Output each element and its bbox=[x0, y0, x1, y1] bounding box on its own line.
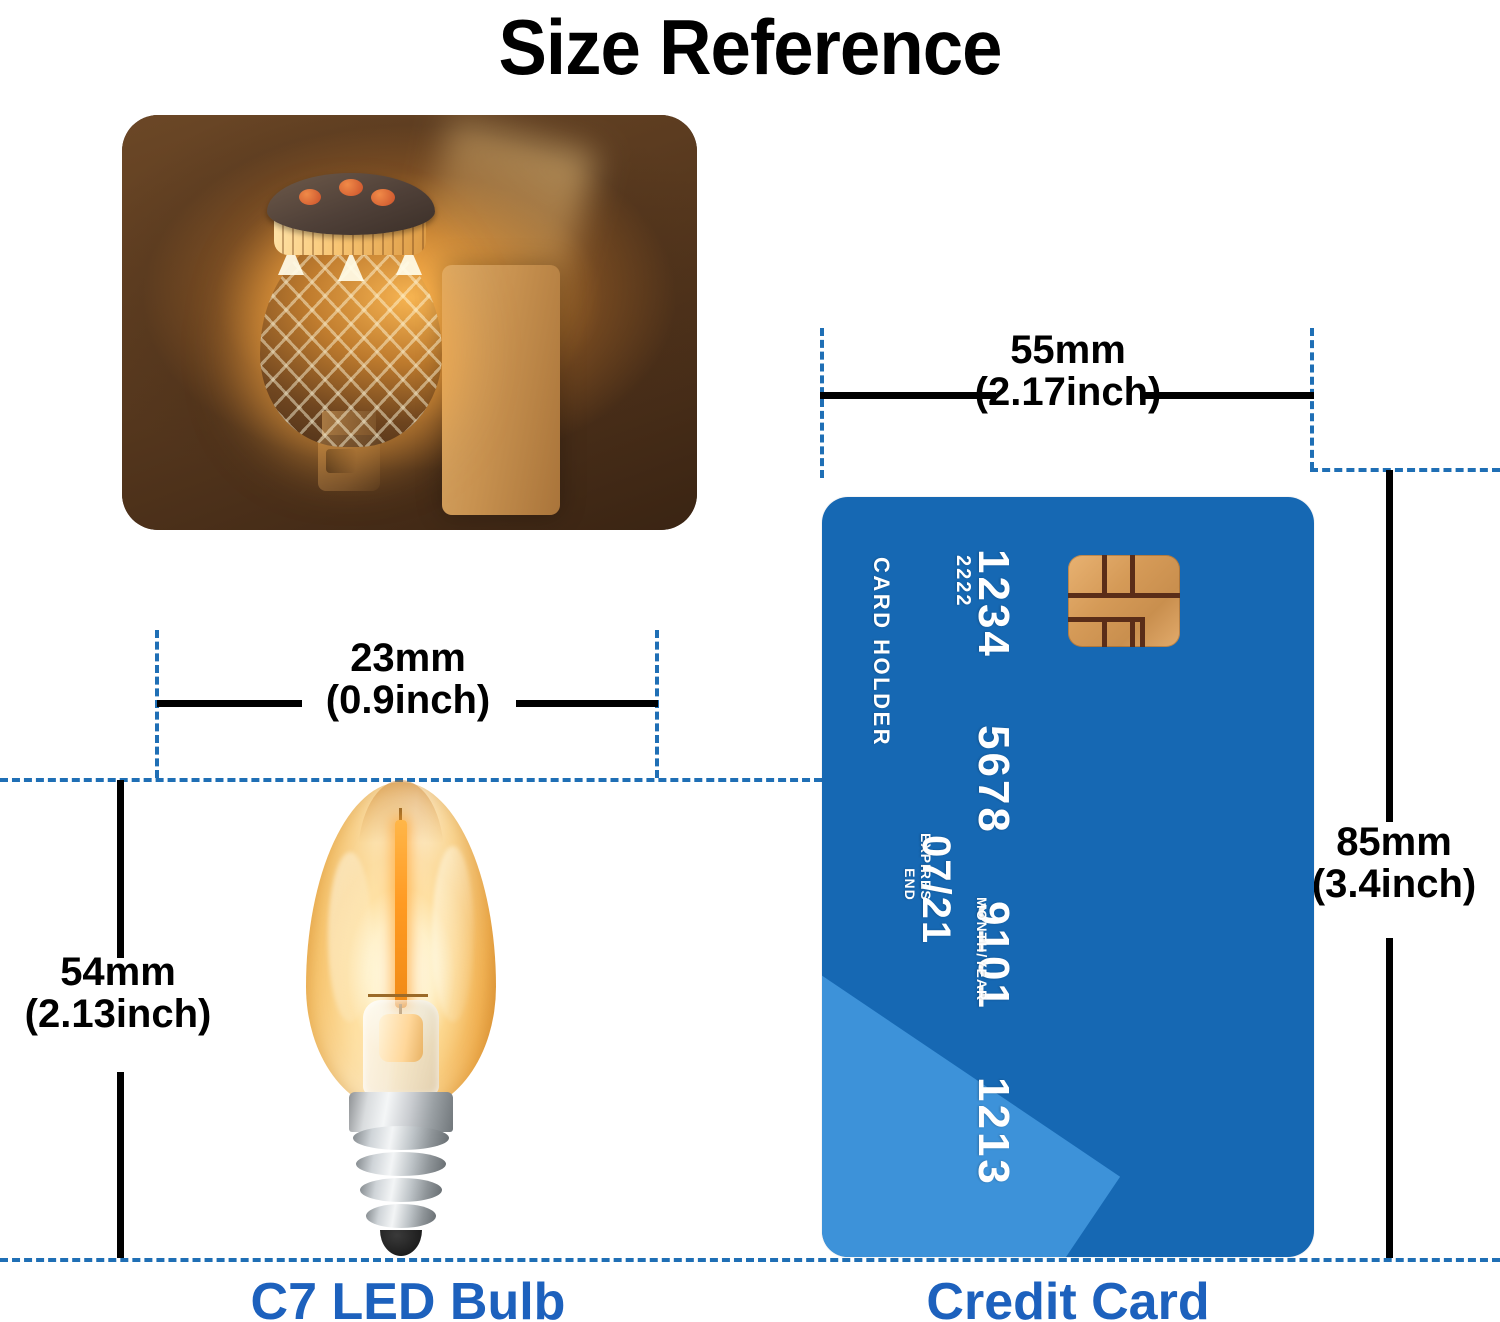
led-filament bbox=[395, 820, 407, 1008]
bulb-base-thread-3 bbox=[360, 1178, 442, 1202]
wall-outlet-plate bbox=[442, 265, 560, 515]
page-title: Size Reference bbox=[53, 2, 1448, 93]
card-number-group-1: 1234 bbox=[968, 549, 1018, 659]
caption-card: Credit Card bbox=[818, 1272, 1318, 1322]
chip-line-v2 bbox=[1130, 555, 1135, 595]
vent-triangle-center bbox=[338, 251, 364, 281]
dim-label-bulb-height: 54mm (2.13inch) bbox=[18, 952, 218, 1035]
dim-label-card-width: 55mm (2.17inch) bbox=[898, 330, 1238, 413]
chip-line-v1 bbox=[1102, 555, 1107, 595]
filament-cross-wire bbox=[368, 994, 428, 997]
dim-value-inch: (3.4inch) bbox=[1294, 864, 1494, 906]
chip-line-v3 bbox=[1102, 617, 1107, 647]
dim-line-card-height-bottom bbox=[1386, 938, 1393, 1258]
caption-bulb: C7 LED Bulb bbox=[148, 1272, 668, 1322]
cap-dot-right bbox=[371, 189, 395, 206]
night-light-ceramic-body bbox=[260, 235, 442, 447]
dash-card-top-extension bbox=[1310, 468, 1500, 472]
bulb-facet-right bbox=[432, 846, 474, 1022]
chip-line-v5 bbox=[1140, 617, 1145, 647]
bulb-base-thread-4 bbox=[366, 1204, 436, 1228]
dim-label-bulb-width: 23mm (0.9inch) bbox=[238, 638, 578, 721]
cap-dot-left bbox=[299, 189, 321, 205]
c7-led-bulb-graphic bbox=[292, 782, 510, 1258]
dim-line-bulb-height-top bbox=[117, 780, 124, 958]
chip-line-v4 bbox=[1130, 617, 1135, 647]
chip-line-h1 bbox=[1068, 593, 1180, 598]
card-number-group-4: 1213 bbox=[968, 1077, 1018, 1187]
dim-value-mm: 23mm bbox=[238, 638, 578, 680]
dim-value-mm: 54mm bbox=[18, 952, 218, 994]
dim-line-bulb-height-bottom bbox=[117, 1072, 124, 1258]
bulb-facet-left bbox=[328, 852, 372, 1022]
cap-dot-center bbox=[339, 179, 363, 196]
night-light-switch bbox=[326, 449, 356, 473]
dim-label-card-height: 85mm (3.4inch) bbox=[1294, 822, 1494, 905]
dash-card-left-extension bbox=[820, 328, 824, 478]
dash-card-right-extension bbox=[1310, 328, 1314, 470]
credit-card-graphic: CARD HOLDER 2222 1234 5678 9101 1213 EXP… bbox=[822, 497, 1314, 1257]
night-light-product-photo bbox=[122, 115, 697, 530]
emv-chip-icon bbox=[1068, 555, 1180, 647]
card-expiry-value: 07/21 bbox=[913, 835, 958, 945]
dim-value-inch: (2.17inch) bbox=[898, 372, 1238, 414]
card-number-group-2: 5678 bbox=[968, 725, 1018, 835]
bulb-stem-core bbox=[379, 1014, 423, 1062]
bulb-base-contact-tip bbox=[380, 1230, 422, 1256]
dim-value-inch: (2.13inch) bbox=[18, 994, 218, 1036]
card-month-year-label: MONTH/YEAR bbox=[974, 897, 990, 1001]
size-reference-infographic: Size Reference 55mm (2.17inch) bbox=[0, 0, 1500, 1322]
dim-value-mm: 55mm bbox=[898, 330, 1238, 372]
dim-value-mm: 85mm bbox=[1294, 822, 1494, 864]
dash-guide-baseline bbox=[0, 1258, 1500, 1262]
bulb-base-thread-2 bbox=[356, 1152, 446, 1176]
card-holder-label: CARD HOLDER bbox=[868, 557, 894, 747]
bulb-base-thread-1 bbox=[353, 1126, 449, 1150]
dim-line-card-height-top bbox=[1386, 470, 1393, 822]
dim-value-inch: (0.9inch) bbox=[238, 680, 578, 722]
